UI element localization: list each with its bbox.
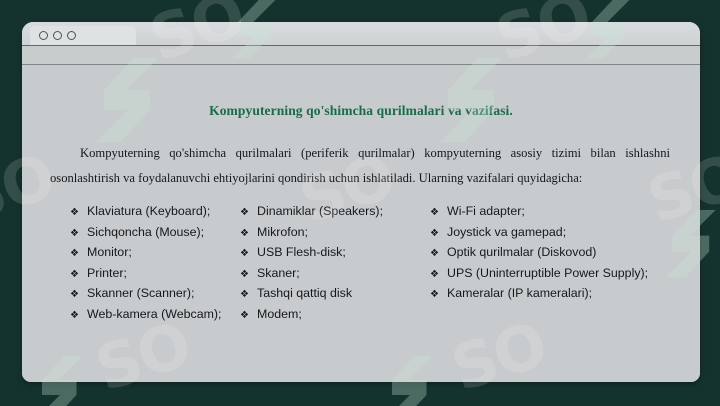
list-item: ❖Wi-Fi adapter; — [430, 205, 700, 218]
bullet-column-1: ❖Klaviatura (Keyboard);❖Sichqoncha (Mous… — [22, 205, 234, 328]
list-item-label: Joystick va gamepad; — [447, 226, 566, 238]
list-item: ❖Optik qurilmalar (Diskovod) — [430, 246, 700, 259]
diamond-bullet-icon: ❖ — [70, 229, 87, 239]
list-item-label: Skanner (Scanner); — [87, 287, 194, 299]
list-item: ❖Web-kamera (Webcam); — [70, 308, 234, 321]
window-dot-1-icon[interactable] — [39, 31, 48, 40]
list-item: ❖USB Flesh-disk; — [240, 246, 424, 259]
list-item: ❖Skanner (Scanner); — [70, 287, 234, 300]
diamond-bullet-icon: ❖ — [430, 270, 447, 280]
window-toolbar — [22, 46, 700, 65]
window-tab[interactable] — [30, 26, 136, 45]
list-item-label: Wi-Fi adapter; — [447, 205, 525, 217]
list-item: ❖UPS (Uninterruptible Power Supply); — [430, 267, 700, 280]
window-title-bar — [22, 22, 700, 46]
diamond-bullet-icon: ❖ — [70, 270, 87, 280]
bullet-column-2: ❖Dinamiklar (Speakers);❖Mikrofon;❖USB Fl… — [234, 205, 424, 328]
window-dot-2-icon[interactable] — [53, 31, 62, 40]
list-item-label: Klaviatura (Keyboard); — [87, 205, 210, 217]
window-dot-3-icon[interactable] — [67, 31, 76, 40]
list-item-label: Kameralar (IP kameralari); — [447, 287, 592, 299]
list-item-label: Web-kamera (Webcam); — [87, 308, 222, 320]
list-item-label: UPS (Uninterruptible Power Supply); — [447, 267, 648, 279]
diamond-bullet-icon: ❖ — [240, 208, 257, 218]
list-item-label: Optik qurilmalar (Diskovod) — [447, 246, 596, 258]
list-item: ❖Mikrofon; — [240, 226, 424, 239]
list-item-label: USB Flesh-disk; — [257, 246, 346, 258]
diamond-bullet-icon: ❖ — [240, 311, 257, 321]
list-item-label: Dinamiklar (Speakers); — [257, 205, 383, 217]
diamond-bullet-icon: ❖ — [70, 311, 87, 321]
list-item-label: Modem; — [257, 308, 302, 320]
list-item: ❖Tashqi qattiq disk — [240, 287, 424, 300]
list-item: ❖Sichqoncha (Mouse); — [70, 226, 234, 239]
document-title: Kompyuterning qo'shimcha qurilmalari va … — [22, 103, 700, 119]
diamond-bullet-icon: ❖ — [240, 290, 257, 300]
diamond-bullet-icon: ❖ — [240, 229, 257, 239]
list-item: ❖Kameralar (IP kameralari); — [430, 287, 700, 300]
diamond-bullet-icon: ❖ — [240, 270, 257, 280]
list-item-label: Printer; — [87, 267, 127, 279]
diamond-bullet-icon: ❖ — [430, 229, 447, 239]
list-item-label: Tashqi qattiq disk — [257, 287, 352, 299]
bullet-columns: ❖Klaviatura (Keyboard);❖Sichqoncha (Mous… — [22, 205, 700, 328]
list-item: ❖Dinamiklar (Speakers); — [240, 205, 424, 218]
list-item: ❖Joystick va gamepad; — [430, 226, 700, 239]
diamond-bullet-icon: ❖ — [430, 249, 447, 259]
document-paragraph: Kompyuterning qo'shimcha qurilmalari (pe… — [50, 141, 670, 191]
diamond-bullet-icon: ❖ — [70, 208, 87, 218]
diamond-bullet-icon: ❖ — [430, 208, 447, 218]
list-item-label: Mikrofon; — [257, 226, 308, 238]
application-window: Kompyuterning qo'shimcha qurilmalari va … — [22, 22, 700, 382]
list-item-label: Skaner; — [257, 267, 300, 279]
list-item: ❖Monitor; — [70, 246, 234, 259]
list-item: ❖Skaner; — [240, 267, 424, 280]
diamond-bullet-icon: ❖ — [70, 249, 87, 259]
list-item: ❖Klaviatura (Keyboard); — [70, 205, 234, 218]
diamond-bullet-icon: ❖ — [430, 290, 447, 300]
diamond-bullet-icon: ❖ — [240, 249, 257, 259]
list-item-label: Sichqoncha (Mouse); — [87, 226, 204, 238]
diamond-bullet-icon: ❖ — [70, 290, 87, 300]
list-item: ❖Printer; — [70, 267, 234, 280]
list-item: ❖Modem; — [240, 308, 424, 321]
document-canvas: Kompyuterning qo'shimcha qurilmalari va … — [22, 65, 700, 382]
list-item-label: Monitor; — [87, 246, 132, 258]
bullet-column-3: ❖Wi-Fi adapter;❖Joystick va gamepad;❖Opt… — [424, 205, 700, 328]
